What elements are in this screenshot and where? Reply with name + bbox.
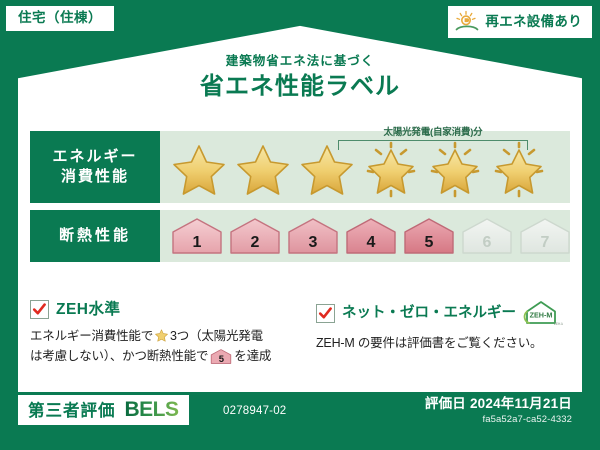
insulation-level-number: 5 [402,235,456,251]
criteria-section: ZEH水準 エネルギー消費性能で3つ（太陽光発電は考慮しない）、かつ断熱性能で5… [30,300,574,367]
zeh-desc-part2: は考慮しない）、かつ断熱性能で [30,349,208,363]
zeh-criterion-header: ZEH水準 [30,300,308,319]
svg-text:ZEH-M: ZEH-M [554,322,563,326]
svg-text:ZEH-M: ZEH-M [530,311,553,320]
star-icon-solar [424,141,486,199]
energy-performance-caption: エネルギー 消費性能 [30,131,160,203]
nzeb-criterion-header: ネット・ゼロ・エネルギー ZEH-M ZEH-M [316,300,574,326]
nzeb-criterion-title: ネット・ゼロ・エネルギー [342,306,516,321]
star-icon-solar [360,141,422,199]
zeh-desc-stars: 3つ（太陽光発電 [170,329,263,343]
evaluation-info: 評価日 2024年11月21日 fa5a52a7-ca52-4332 [425,397,572,424]
sun-icon [454,10,480,34]
bels-logo-text: BELS [125,399,179,420]
nzeb-checkbox[interactable] [316,304,335,323]
energy-caption-line2: 消費性能 [61,167,129,187]
insulation-level-scale: 1 2 3 4 5 [160,216,572,256]
star-icon [168,141,230,199]
insulation-level-badge-inline: 5 [210,348,232,365]
footer-bar: 第三者評価 BELS 0278947-02 評価日 2024年11月21日 fa… [18,392,582,432]
zeh-checkbox[interactable] [30,300,49,319]
title-subtitle: 建築物省エネ法に基づく [0,54,600,69]
registration-number: 0278947-02 [223,406,286,418]
renewable-badge-label: 再エネ設備あり [485,15,582,29]
insulation-caption-label: 断熱性能 [59,226,131,246]
zeh-m-logo-icon: ZEH-M ZEH-M [523,300,563,326]
zeh-criterion: ZEH水準 エネルギー消費性能で3つ（太陽光発電は考慮しない）、かつ断熱性能で5… [30,300,308,367]
building-type-label: 住宅（住棟） [18,10,102,25]
zeh-criterion-title: ZEH水準 [56,302,121,318]
insulation-level-badge: 4 [344,216,398,256]
evaluation-date-value: 2024年11月21日 [470,396,572,411]
performance-panel: エネルギー 消費性能 太陽光発電(自家消費)分 [30,131,570,262]
nzeb-criterion-description: ZEH-M の要件は評価書をご覧ください。 [316,333,574,353]
solar-bracket [338,140,528,150]
insulation-performance-caption: 断熱性能 [30,210,160,262]
energy-performance-row: エネルギー 消費性能 太陽光発電(自家消費)分 [30,131,570,203]
zeh-criterion-description: エネルギー消費性能で3つ（太陽光発電は考慮しない）、かつ断熱性能で5を達成 [30,326,308,367]
insulation-level-badge: 2 [228,216,282,256]
insulation-level-badge: 5 [402,216,456,256]
star-icon-solar [488,141,550,199]
check-icon [318,306,333,321]
solar-annotation: 太陽光発電(自家消費)分 [338,128,528,150]
energy-caption-line1: エネルギー [52,147,137,167]
insulation-level-badge: 1 [170,216,224,256]
star-icon [232,141,294,199]
star-icon-inline [154,328,169,343]
zeh-desc-part3: を達成 [234,349,271,363]
insulation-level-number: 1 [170,235,224,251]
bels-tag: 第三者評価 BELS [18,395,189,425]
energy-performance-label: 住宅（住棟） 再エネ設備あり 建築物省エネ法に基づく 省エネ性能ラベル [0,0,600,450]
nzeb-criterion: ネット・ゼロ・エネルギー ZEH-M ZEH-M ZEH-M の要件は評価書をご… [308,300,574,367]
star-rating [160,141,550,199]
zeh-desc-part1: エネルギー消費性能で [30,329,153,343]
insulation-level-number: 3 [286,235,340,251]
insulation-level-badge: 3 [286,216,340,256]
page-title: 省エネ性能ラベル [0,73,600,101]
insulation-level-number: 6 [460,235,514,251]
insulation-performance-row: 断熱性能 1 2 3 [30,210,570,262]
evaluation-hash: fa5a52a7-ca52-4332 [425,415,572,425]
zeh-desc-badge: 5 [210,355,232,365]
renewable-equipment-badge: 再エネ設備あり [448,6,592,38]
insulation-level-badge: 7 [518,216,572,256]
evaluation-date-label: 評価日 [425,396,466,411]
title-block: 建築物省エネ法に基づく 省エネ性能ラベル [0,54,600,101]
third-party-label: 第三者評価 [28,403,116,420]
building-type-tag: 住宅（住棟） [6,6,114,31]
star-icon [296,141,358,199]
check-icon [32,302,47,317]
evaluation-date: 評価日 2024年11月21日 [425,397,572,412]
insulation-level-number: 2 [228,235,282,251]
insulation-level-badge: 6 [460,216,514,256]
insulation-level-number: 4 [344,235,398,251]
insulation-level-number: 7 [518,235,572,251]
insulation-levels-area: 1 2 3 4 5 [160,210,572,262]
energy-stars-area: 太陽光発電(自家消費)分 [160,131,570,203]
solar-annotation-label: 太陽光発電(自家消費)分 [338,128,528,138]
